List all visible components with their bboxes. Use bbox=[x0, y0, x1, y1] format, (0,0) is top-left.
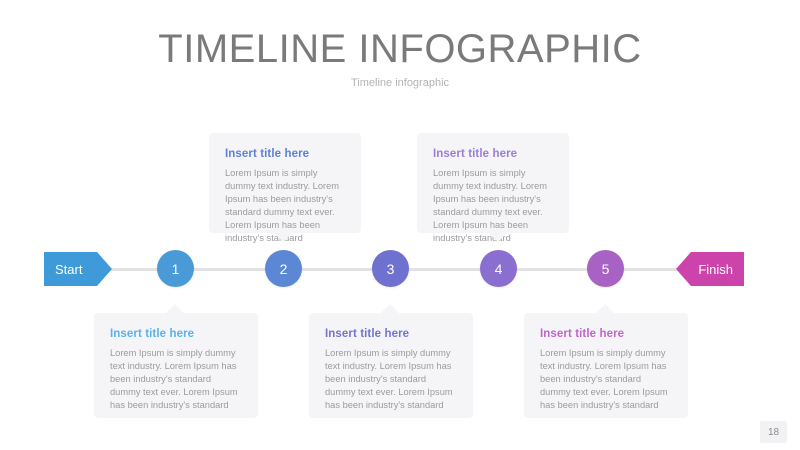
timeline-node-3[interactable]: 3 bbox=[372, 250, 409, 287]
timeline-card-3-pointer bbox=[381, 304, 399, 313]
timeline-node-1[interactable]: 1 bbox=[157, 250, 194, 287]
page-title: TIMELINE INFOGRAPHIC bbox=[0, 26, 800, 72]
timeline-finish-marker[interactable]: Finish bbox=[676, 252, 744, 286]
timeline-card-1[interactable]: Insert title here Lorem Ipsum is simply … bbox=[94, 313, 258, 418]
timeline-node-2[interactable]: 2 bbox=[265, 250, 302, 287]
timeline-card-1-body: Lorem Ipsum is simply dummy text industr… bbox=[110, 347, 242, 412]
timeline-start-marker[interactable]: Start bbox=[44, 252, 112, 286]
page-subtitle: Timeline infographic bbox=[0, 76, 800, 90]
timeline-node-5[interactable]: 5 bbox=[587, 250, 624, 287]
timeline-card-4[interactable]: Insert title here Lorem Ipsum is simply … bbox=[417, 133, 569, 233]
timeline-card-5-body: Lorem Ipsum is simply dummy text industr… bbox=[540, 347, 672, 412]
timeline-card-3-body: Lorem Ipsum is simply dummy text industr… bbox=[325, 347, 457, 412]
timeline-node-1-number: 1 bbox=[172, 261, 180, 277]
timeline-card-1-title: Insert title here bbox=[110, 327, 242, 341]
timeline-node-3-number: 3 bbox=[387, 261, 395, 277]
timeline-card-3[interactable]: Insert title here Lorem Ipsum is simply … bbox=[309, 313, 473, 418]
timeline-card-5-title: Insert title here bbox=[540, 327, 672, 341]
timeline-card-4-title: Insert title here bbox=[433, 147, 553, 161]
timeline-node-4[interactable]: 4 bbox=[480, 250, 517, 287]
page-number-value: 18 bbox=[768, 427, 779, 438]
timeline-card-1-pointer bbox=[166, 304, 184, 313]
page-number-badge: 18 bbox=[760, 421, 787, 443]
timeline-card-2-title: Insert title here bbox=[225, 147, 345, 161]
timeline-card-2-pointer bbox=[274, 233, 292, 242]
timeline-card-5-pointer bbox=[596, 304, 614, 313]
timeline-card-5[interactable]: Insert title here Lorem Ipsum is simply … bbox=[524, 313, 688, 418]
timeline-card-2[interactable]: Insert title here Lorem Ipsum is simply … bbox=[209, 133, 361, 233]
timeline-node-2-number: 2 bbox=[280, 261, 288, 277]
timeline-node-5-number: 5 bbox=[602, 261, 610, 277]
timeline-start-label: Start bbox=[55, 263, 82, 276]
slide-canvas: TIMELINE INFOGRAPHIC Timeline infographi… bbox=[0, 0, 800, 450]
timeline-node-4-number: 4 bbox=[495, 261, 503, 277]
timeline-card-4-pointer bbox=[489, 233, 507, 242]
timeline-card-3-title: Insert title here bbox=[325, 327, 457, 341]
timeline-finish-label: Finish bbox=[698, 263, 733, 276]
